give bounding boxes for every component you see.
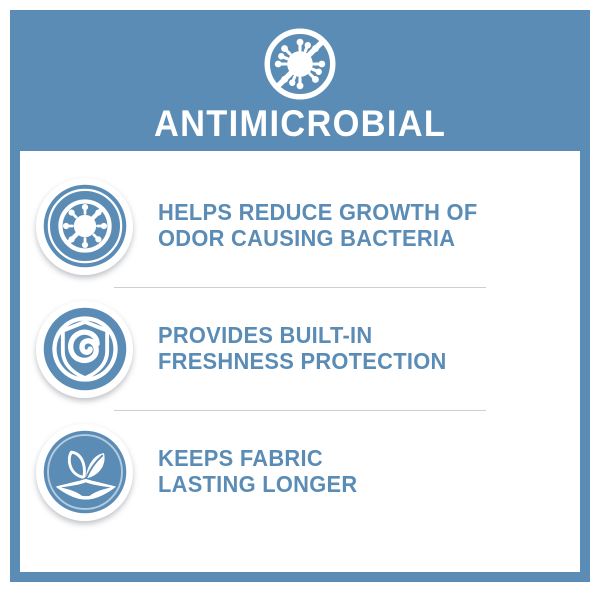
feature-label-line1: PROVIDES BUILT-IN — [158, 322, 372, 348]
poster-header: ANTIMICROBIAL — [20, 20, 580, 151]
feature-label-line1: KEEPS FABRIC — [158, 445, 323, 471]
feature-label-line2: ODOR CAUSING BACTERIA — [158, 226, 477, 252]
feature-label: HELPS REDUCE GROWTH OF ODOR CAUSING BACT… — [158, 200, 477, 252]
shield-swirl-badge-icon — [36, 301, 133, 398]
no-germ-badge-icon — [36, 178, 133, 275]
feature-label: PROVIDES BUILT-IN FRESHNESS PROTECTION — [158, 323, 447, 375]
feature-label: KEEPS FABRIC LASTING LONGER — [158, 446, 357, 498]
feature-label-line2: FRESHNESS PROTECTION — [158, 349, 447, 375]
leaf-sprout-badge-icon — [36, 424, 133, 521]
feature-row: HELPS REDUCE GROWTH OF ODOR CAUSING BACT… — [20, 165, 580, 287]
feature-row: KEEPS FABRIC LASTING LONGER — [20, 411, 580, 533]
feature-row: PROVIDES BUILT-IN FRESHNESS PROTECTION — [20, 288, 580, 410]
no-germ-icon — [261, 25, 339, 103]
features-list: HELPS REDUCE GROWTH OF ODOR CAUSING BACT… — [20, 151, 580, 572]
feature-label-line2: LASTING LONGER — [158, 472, 357, 498]
antimicrobial-infographic: ANTIMICROBIAL — [10, 10, 590, 582]
page-title: ANTIMICROBIAL — [154, 105, 446, 142]
feature-label-line1: HELPS REDUCE GROWTH OF — [158, 199, 477, 225]
